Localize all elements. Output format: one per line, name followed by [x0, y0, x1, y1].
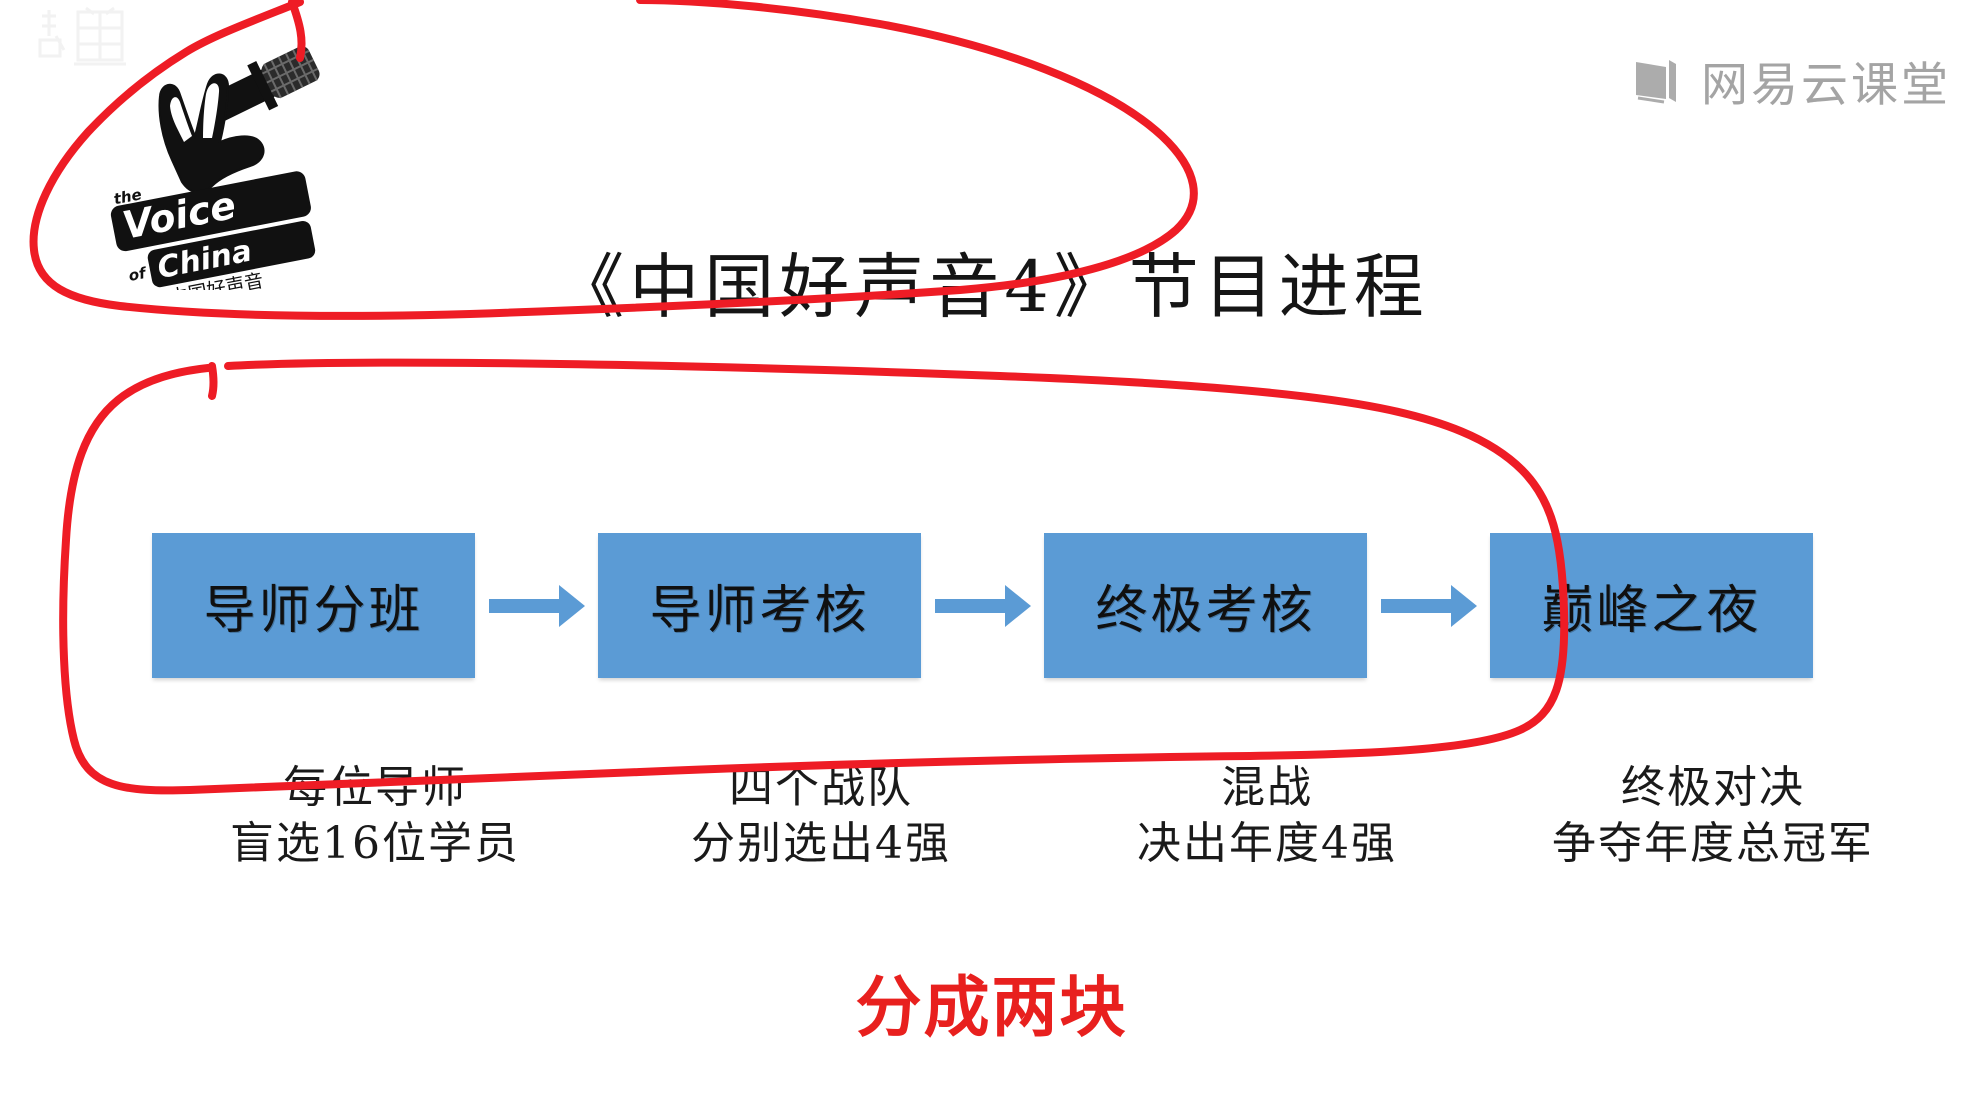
arrow-shaft [489, 599, 561, 613]
flow-step-3: 终极考核 [1044, 533, 1490, 678]
flow-box-dianfeng-zhiye[interactable]: 巅峰之夜 [1490, 533, 1813, 678]
flow-box-zhongji-kaohe[interactable]: 终极考核 [1044, 533, 1367, 678]
screen-book-icon [1633, 58, 1685, 104]
flow-arrow-3 [1367, 533, 1490, 678]
arrow-head-icon [1451, 585, 1477, 627]
flow-box-daoshi-kaohe[interactable]: 导师考核 [598, 533, 921, 678]
page-title: 《中国好声音4》节目进程 [0, 252, 1983, 322]
annotation-note-text: 分成两块 [0, 975, 1983, 1041]
caption-line: 争夺年度总冠军 [1490, 816, 1936, 872]
ink-tick-stroke [212, 366, 214, 396]
flow-caption-4: 终极对决 争夺年度总冠军 [1490, 760, 1936, 890]
flow-caption-1: 每位导师 盲选16位学员 [152, 760, 598, 890]
flow-box-label: 巅峰之夜 [1541, 568, 1761, 643]
flow-box-label: 终极考核 [1095, 568, 1315, 643]
flow-caption-2: 四个战队 分别选出4强 [598, 760, 1044, 890]
process-flow-captions: 每位导师 盲选16位学员 四个战队 分别选出4强 混战 决出年度4强 终极对决 … [152, 760, 1812, 890]
arrow-shaft [1381, 599, 1453, 613]
caption-line: 决出年度4强 [1044, 816, 1490, 872]
flow-step-1: 导师分班 [152, 533, 598, 678]
flow-arrow-2 [921, 533, 1044, 678]
netease-watermark-label: 网易云课堂 [1701, 46, 1951, 115]
the-voice-of-china-logo: Voice the China of 中国好声音 [98, 10, 328, 290]
flow-step-2: 导师考核 [598, 533, 1044, 678]
netease-cloud-classroom-watermark: 网易云课堂 [1633, 46, 1951, 115]
process-flow: 导师分班 导师考核 终极考核 [152, 533, 1812, 678]
flow-box-daoshi-fenban[interactable]: 导师分班 [152, 533, 475, 678]
flow-box-label: 导师考核 [649, 568, 869, 643]
arrow-head-icon [1005, 585, 1031, 627]
caption-line: 分别选出4强 [598, 816, 1044, 872]
flow-step-4: 巅峰之夜 [1490, 533, 1813, 678]
flow-box-label: 导师分班 [203, 568, 423, 643]
caption-line: 盲选16位学员 [152, 816, 598, 872]
flow-caption-3: 混战 决出年度4强 [1044, 760, 1490, 890]
slide-canvas: Voice the China of 中国好声音 网易云课堂 《中国好声音4》节… [0, 0, 1983, 1103]
caption-line: 四个战队 [598, 760, 1044, 816]
caption-line: 混战 [1044, 760, 1490, 816]
arrow-shaft [935, 599, 1007, 613]
caption-line: 终极对决 [1490, 760, 1936, 816]
flow-arrow-1 [475, 533, 598, 678]
caption-line: 每位导师 [152, 760, 598, 816]
arrow-head-icon [559, 585, 585, 627]
